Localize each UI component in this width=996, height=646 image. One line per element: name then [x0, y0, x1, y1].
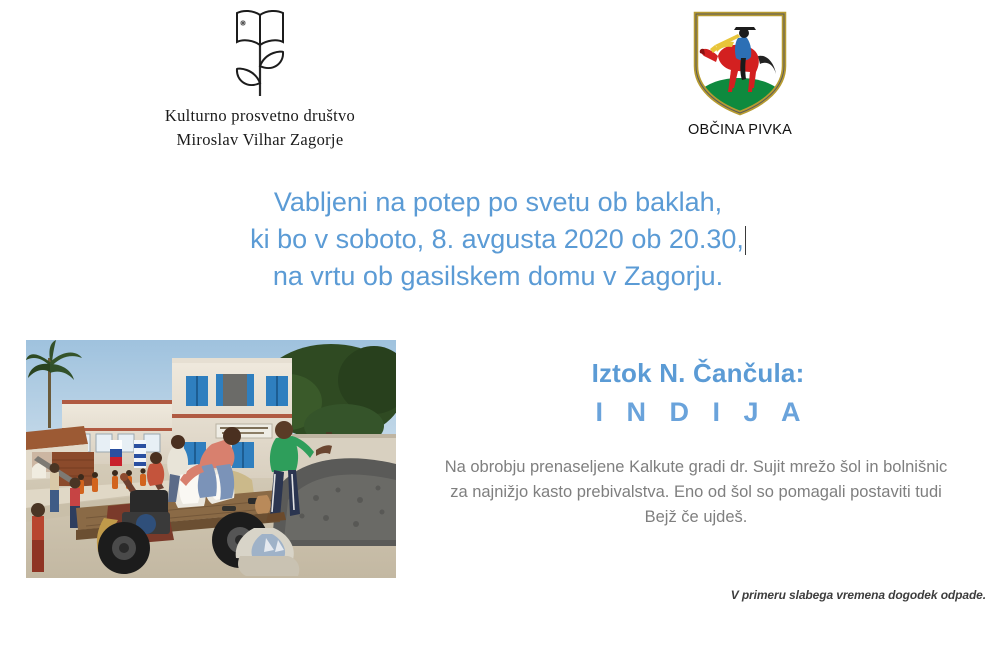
speaker-name: Iztok N. Čančula:	[400, 356, 996, 390]
india-construction-photo	[26, 340, 396, 578]
event-headline: Vabljeni na potep po svetu ob baklah, ki…	[0, 184, 996, 295]
description-line-2: za najnižjo kasto prebivalstva. Eno od š…	[398, 480, 994, 505]
open-book-flower-icon	[210, 4, 310, 104]
headline-line-2-wrap: ki bo v soboto, 8. avgusta 2020 ob 20.30…	[0, 221, 996, 258]
event-photo	[26, 340, 396, 578]
society-logo: Kulturno prosvetno društvo Miroslav Vilh…	[150, 4, 370, 152]
talk-topic: I N D I J A	[400, 394, 996, 430]
text-caret	[745, 226, 746, 255]
description-line-3: Bejž če ujdeš.	[398, 505, 994, 530]
municipality-name: OBČINA PIVKA	[650, 122, 830, 138]
description-line-1: Na obrobju prenaseljene Kalkute gradi dr…	[398, 455, 994, 480]
headline-line-3: na vrtu ob gasilskem domu v Zagorju.	[0, 258, 996, 295]
municipality-logo: OBČINA PIVKA	[650, 8, 830, 138]
talk-heading: Iztok N. Čančula: I N D I J A	[400, 356, 996, 430]
headline-line-2: ki bo v soboto, 8. avgusta 2020 ob 20.30…	[250, 224, 744, 254]
headline-line-1: Vabljeni na potep po svetu ob baklah,	[0, 184, 996, 221]
weather-disclaimer: V primeru slabega vremena dogodek odpade…	[396, 588, 986, 602]
society-name-line-2: Miroslav Vilhar Zagorje	[150, 128, 370, 152]
pivka-coat-of-arms-icon	[688, 8, 792, 120]
society-name-line-1: Kulturno prosvetno društvo	[150, 104, 370, 128]
talk-description: Na obrobju prenaseljene Kalkute gradi dr…	[398, 455, 994, 530]
